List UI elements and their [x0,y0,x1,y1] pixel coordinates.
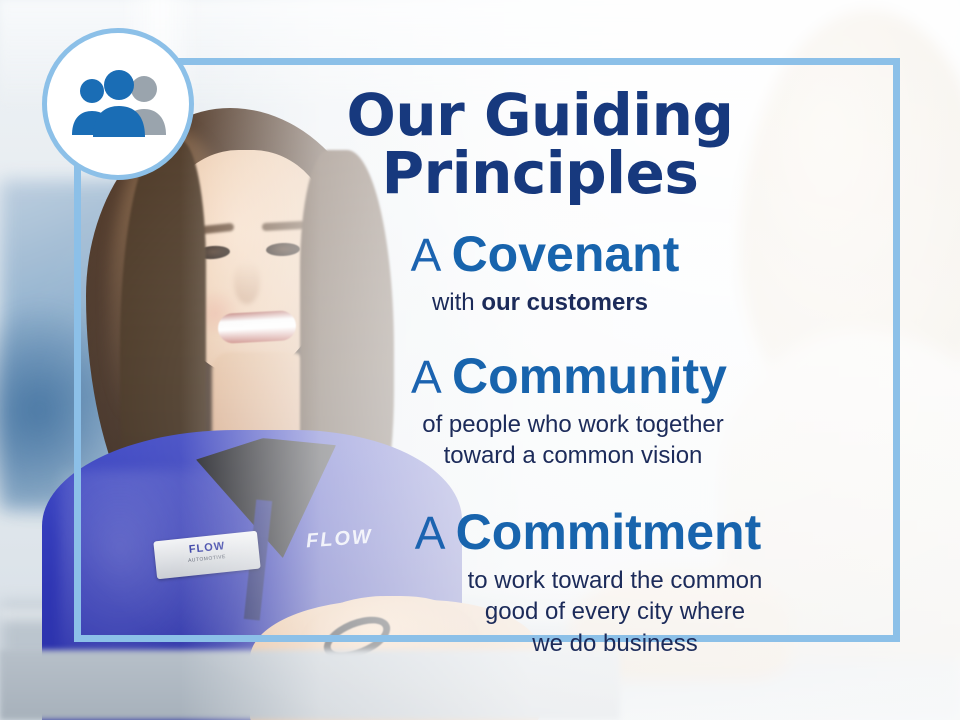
principle-commitment-article: A [415,507,456,559]
commitment-sub-2-text: good of every city where [485,598,745,625]
covenant-sub-plain: with [432,289,481,316]
promo-graphic: FLOW AUTOMOTIVE FLOW [0,0,960,720]
principle-community-subline-1: of people who work together [200,409,880,441]
principle-covenant: A Covenant with our customers [200,228,880,318]
text-block: Our Guiding Principles A Covenant with o… [200,86,880,660]
principle-commitment: A Commitment to work toward the common g… [200,506,880,660]
principle-community-subline-2: toward a common vision [200,440,880,472]
principle-community-article: A [411,351,452,403]
principle-covenant-heading: A Covenant [200,228,880,281]
page-title: Our Guiding Principles [200,86,880,202]
principle-commitment-heading: A Commitment [200,506,880,559]
principle-commitment-keyword: Commitment [456,504,762,560]
principle-covenant-article: A [411,229,452,281]
covenant-sub-bold: our customers [481,289,648,316]
commitment-sub-1-text: to work toward the common [468,567,763,594]
principle-community-keyword: Community [452,348,727,404]
people-badge [42,28,194,180]
principle-covenant-keyword: Covenant [452,226,680,282]
principle-community-heading: A Community [200,350,880,403]
commitment-sub-3-text: we do business [532,630,697,657]
principle-covenant-subline-1: with our customers [200,287,880,319]
community-sub-1-text: of people who work together [422,411,724,438]
principle-commitment-subline-3: we do business [200,628,880,660]
principle-community: A Community of people who work together … [200,350,880,472]
people-group-icon [64,69,172,139]
principle-commitment-subline-2: good of every city where [200,596,880,628]
principle-commitment-subline-1: to work toward the common [200,565,880,597]
community-sub-2-text: toward a common vision [444,442,703,469]
